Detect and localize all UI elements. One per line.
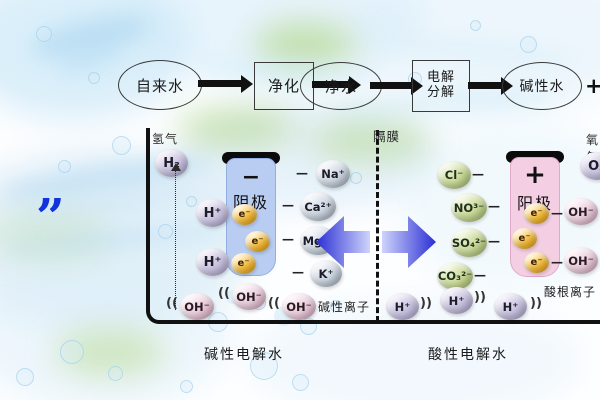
cation-dash-3: — [282, 232, 293, 246]
ion-h-plus-right-1: H⁺ [386, 293, 419, 320]
anion-dash-3: — [488, 234, 499, 248]
flow-node-tap-water-label: 自来水 [136, 75, 184, 96]
flow-arrow-1 [198, 80, 242, 87]
ion-h-plus-left-2: H⁺ [196, 248, 229, 276]
electron-cathode-1: e⁻ [232, 204, 257, 225]
flow-arrow-3 [370, 82, 412, 89]
oh-paren-left-1: (( [166, 296, 178, 311]
double-arrow-icon [314, 214, 438, 270]
acid-ion-group-label: 酸根离子 [544, 283, 596, 300]
flow-node-electrolysis-label-2: 分解 [427, 86, 455, 101]
cation-dash-2: — [282, 198, 293, 212]
ion-so4-2minus: SO₄²⁻ [451, 228, 487, 257]
electron-cathode-3: e⁻ [231, 253, 256, 274]
cation-dash-1: — [296, 166, 307, 180]
ion-na-plus: Na⁺ [316, 160, 350, 188]
flow-node-alkaline-water-label: 碱性水 [520, 76, 565, 96]
ion-h-plus-right-2: H⁺ [440, 287, 473, 314]
anode-sign: + [511, 162, 559, 188]
membrane-label: 隔膜 [373, 126, 400, 145]
electron-anode-1: e⁻ [524, 203, 549, 224]
ion-no3-minus: NO³⁻ [451, 193, 487, 222]
anion-dash-1: — [472, 167, 483, 181]
cation-dash-4: — [292, 265, 303, 279]
flow-node-purify-label: 净化 [268, 78, 300, 95]
hydrogen-release-arrow [175, 170, 176, 310]
flow-node-tap-water: 自来水 [118, 60, 202, 110]
electron-cathode-2: e⁻ [245, 231, 270, 252]
ion-oh-left-2: OH⁻ [232, 283, 266, 310]
flow-arrow-4 [468, 82, 502, 89]
ion-cl-minus: Cl⁻ [437, 161, 471, 189]
anode-bond-dash-1: — [551, 206, 562, 220]
flow-trailing-plus: + [585, 74, 600, 98]
cathode-sign: − [227, 167, 275, 189]
flow-node-electrolysis-label-1: 电解 [427, 71, 455, 86]
ion-h-plus-left-1: H⁺ [196, 199, 229, 227]
ion-h-plus-right-3: H⁺ [494, 293, 527, 320]
anion-dash-4: — [474, 268, 485, 282]
ion-oh-right-1: OH⁻ [564, 198, 598, 225]
quote-mark-decoration: ” [36, 192, 65, 242]
ion-oh-left-1: OH⁻ [180, 293, 214, 320]
electron-anode-3: e⁻ [524, 252, 549, 273]
ion-oh-left-3: OH⁻ [282, 293, 316, 320]
h-paren-right-2: )) [474, 290, 486, 305]
diagram-canvas: ” 自来水 净化 净水 电解 分解 碱性水 + 隔膜 氢气 H₂ − 阴极 e⁻… [0, 0, 600, 400]
h-paren-right-3: )) [530, 296, 542, 311]
alkaline-ion-group-label: 碱性离子 [318, 298, 370, 315]
flow-node-alkaline-water: 碱性水 [502, 62, 582, 110]
flow-node-pure-water-label: 净水 [325, 76, 357, 97]
oh-paren-left-3: (( [268, 296, 280, 311]
anion-dash-2: — [488, 199, 499, 213]
hydrogen-gas-label: 氢气 [152, 130, 178, 147]
ion-co3-2minus: CO₃²⁻ [437, 262, 473, 290]
ion-oh-right-2: OH⁻ [564, 247, 598, 274]
acidic-water-label: 酸性电解水 [428, 344, 508, 364]
electron-anode-2: e⁻ [512, 228, 537, 249]
h-paren-right-1: )) [420, 296, 432, 311]
alkaline-water-label: 碱性电解水 [204, 344, 284, 364]
oh-paren-left-2: (( [218, 286, 230, 301]
flow-node-electrolysis: 电解 分解 [412, 60, 470, 112]
anode-bond-dash-2: — [551, 255, 562, 269]
